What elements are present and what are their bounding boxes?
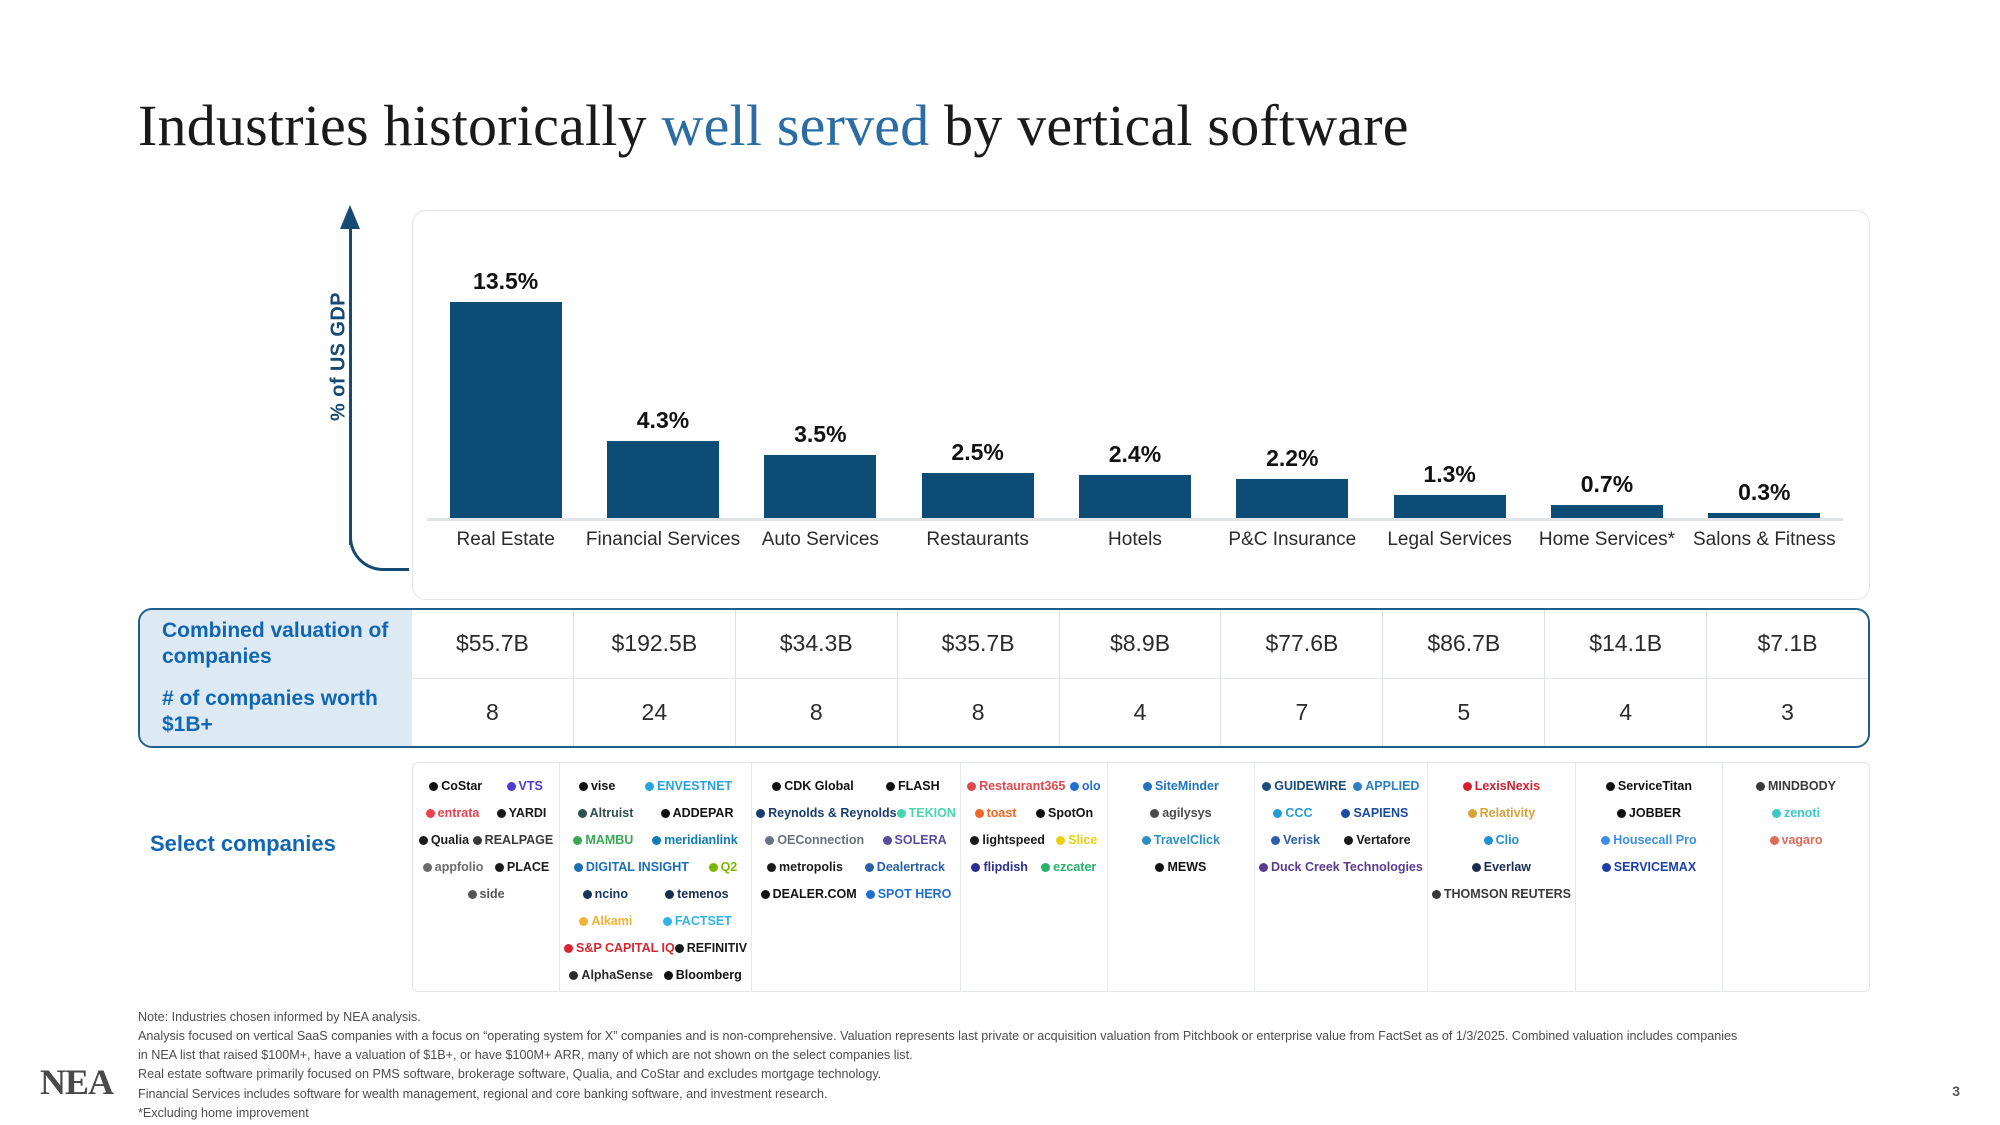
logo-row: JOBBER [1580,800,1718,827]
logo-mark-icon [495,863,504,872]
company-logo-name: SpotOn [1048,807,1093,820]
table-column: $14.1B4 [1544,610,1706,746]
bar-value-label: 2.2% [1266,445,1318,472]
company-logo: CCC [1273,807,1312,820]
company-logo-name: CCC [1285,807,1312,820]
logo-row: side [417,881,555,908]
bar [1394,495,1506,518]
company-logo: Vertafore [1344,834,1410,847]
page-number: 3 [1952,1083,1960,1099]
logo-row: metropolisDealertrack [756,854,956,881]
logo-row: ncinotemenos [564,881,747,908]
company-logo-name: flipdish [983,861,1027,874]
logo-mark-icon [419,836,428,845]
company-logo: YARDI [497,807,547,820]
company-logo: LexisNexis [1463,780,1540,793]
company-logo: REFINITIV [675,942,747,955]
x-axis-tick-label: Salons & Fitness [1686,529,1843,559]
logo-mark-icon [1472,863,1481,872]
company-logo-name: GUIDEWIRE [1274,780,1346,793]
logo-mark-icon [652,836,661,845]
table-column: $35.7B8 [897,610,1059,746]
company-logo-name: Relativity [1480,807,1536,820]
company-logo-name: TravelClick [1154,834,1220,847]
company-logo: DIGITAL INSIGHT [574,861,689,874]
bar-value-label: 13.5% [473,268,538,295]
company-logo: Verisk [1271,834,1320,847]
logo-row: AltruistADDEPAR [564,800,747,827]
logo-row: MEWS [1112,854,1250,881]
company-logo-name: DIGITAL INSIGHT [586,861,689,874]
company-logo: ServiceTitan [1606,780,1692,793]
logo-row: DEALER.COMSPOT HERO [756,881,956,908]
logo-row: TravelClick [1112,827,1250,854]
logo-row: Everlaw [1432,854,1571,881]
company-logo-name: Reynolds & Reynolds [768,807,897,820]
company-logo-name: Q2 [721,861,738,874]
logo-mark-icon [886,782,895,791]
logo-mark-icon [1344,836,1353,845]
nea-logo: NEA [40,1061,113,1103]
company-logo-name: ServiceTitan [1618,780,1692,793]
logo-mark-icon [1606,782,1615,791]
company-logo-name: toast [987,807,1017,820]
company-logo-name: MEWS [1167,861,1206,874]
table-cell: $86.7B [1383,610,1544,678]
company-logo-name: Slice [1068,834,1097,847]
company-logo: agilysys [1150,807,1211,820]
logo-mark-icon [1271,836,1280,845]
company-logo-name: SPOT HERO [878,888,952,901]
logo-mark-icon [578,809,587,818]
page-title-highlight: well served [662,93,930,158]
page-title-part1: Industries historically [138,93,662,158]
x-axis-tick-label: Restaurants [899,529,1056,559]
company-logo-name: MINDBODY [1768,780,1836,793]
table-cell: $55.7B [412,610,573,678]
logo-mark-icon [497,809,506,818]
bar-value-label: 2.5% [951,439,1003,466]
company-logo-name: CoStar [441,780,482,793]
company-logo: olo [1070,780,1101,793]
company-logo-name: FLASH [898,780,940,793]
company-logo: CoStar [429,780,482,793]
company-logo-name: lightspeed [982,834,1045,847]
logo-mark-icon [645,782,654,791]
table-cell: 8 [736,678,897,747]
logo-column: CoStarVTSentrataYARDIQualiaREALPAGEappfo… [413,763,559,991]
company-logo-name: vagaro [1782,834,1823,847]
x-axis-tick-label: Real Estate [427,529,584,559]
company-logo-name: PLACE [507,861,549,874]
logo-mark-icon [661,809,670,818]
company-logo: CDK Global [772,780,853,793]
company-logo: SOLERA [883,834,947,847]
logo-mark-icon [564,944,573,953]
company-logo: meridianlink [652,834,738,847]
company-logo: appfolio [423,861,484,874]
company-logo-name: REALPAGE [485,834,554,847]
company-logo: metropolis [767,861,843,874]
logo-mark-icon [1756,782,1765,791]
footnote-line: Real estate software primarily focused o… [138,1065,1858,1084]
company-logo: zenoti [1772,807,1820,820]
company-logo-name: THOMSON REUTERS [1444,888,1571,901]
company-logo-name: zenoti [1784,807,1820,820]
company-logo-name: VTS [519,780,543,793]
logo-mark-icon [765,836,774,845]
company-logo: ENVESTNET [645,780,732,793]
logo-row: toastSpotOn [965,800,1103,827]
company-logo-name: appfolio [435,861,484,874]
company-logo-name: Dealertrack [877,861,945,874]
chart-baseline [427,518,1843,521]
company-logo: Bloomberg [664,969,742,982]
bar [1079,475,1191,518]
company-logo: FLASH [886,780,940,793]
bar-column: 4.3% [584,268,741,518]
select-companies-label: Select companies [150,830,400,859]
company-logo: SiteMinder [1143,780,1219,793]
select-companies-panel: CoStarVTSentrataYARDIQualiaREALPAGEappfo… [412,762,1870,992]
company-logo-name: Clio [1496,834,1520,847]
company-logo: AlphaSense [569,969,653,982]
company-logo-name: Bloomberg [676,969,742,982]
logo-mark-icon [1262,782,1271,791]
logo-mark-icon [1601,836,1610,845]
company-logo: vagaro [1770,834,1823,847]
table-column: $77.6B7 [1220,610,1382,746]
bar [450,302,562,518]
logo-mark-icon [1056,836,1065,845]
company-logo-name: REFINITIV [687,942,747,955]
company-logo-name: LexisNexis [1475,780,1540,793]
logo-mark-icon [1041,863,1050,872]
logo-mark-icon [761,890,770,899]
logo-column: MINDBODYzenotivagaro [1722,763,1869,991]
logo-row: ServiceTitan [1580,773,1718,800]
company-logo-name: Vertafore [1356,834,1410,847]
company-logo-name: agilysys [1162,807,1211,820]
logo-row: vagaro [1727,827,1865,854]
company-logo-name: SAPIENS [1353,807,1408,820]
company-logo: TEKION [897,807,956,820]
company-logo-name: SOLERA [895,834,947,847]
logo-mark-icon [573,836,582,845]
table-cell: 24 [574,678,735,747]
company-logo-name: JOBBER [1629,807,1681,820]
company-logo: lightspeed [970,834,1045,847]
company-logo-name: SERVICEMAX [1614,861,1696,874]
logo-mark-icon [897,809,906,818]
company-logo: Qualia [419,834,469,847]
company-logo-name: olo [1082,780,1101,793]
company-logo: SAPIENS [1341,807,1408,820]
logo-column: ServiceTitanJOBBERHousecall ProSERVICEMA… [1575,763,1722,991]
x-axis-tick-label: Legal Services [1371,529,1528,559]
company-logo: VTS [507,780,543,793]
logo-row: Duck Creek Technologies [1259,854,1423,881]
logo-mark-icon [1259,863,1268,872]
logo-mark-icon [1070,782,1079,791]
footnote-line: Note: Industries chosen informed by NEA … [138,1008,1858,1027]
company-logo: Relativity [1468,807,1536,820]
bar-value-label: 3.5% [794,421,846,448]
bar-value-label: 4.3% [637,407,689,434]
company-logo: SpotOn [1036,807,1093,820]
logo-row: viseENVESTNET [564,773,747,800]
company-logo: Clio [1484,834,1520,847]
company-logo-name: CDK Global [784,780,853,793]
logo-mark-icon [865,863,874,872]
company-logo-name: temenos [677,888,728,901]
logo-mark-icon [967,782,976,791]
logo-row: lightspeedSlice [965,827,1103,854]
logo-mark-icon [1142,836,1151,845]
company-logo: S&P CAPITAL IQ [564,942,675,955]
logo-row: SERVICEMAX [1580,854,1718,881]
company-logo: Altruist [578,807,634,820]
logo-mark-icon [1463,782,1472,791]
logo-row: CoStarVTS [417,773,555,800]
logo-mark-icon [1772,809,1781,818]
company-logo-name: SiteMinder [1155,780,1219,793]
x-axis-tick-label: Financial Services [584,529,741,559]
logo-row: VeriskVertafore [1259,827,1423,854]
table-row-label-column: Combined valuation of companies # of com… [140,610,412,746]
company-logo: temenos [665,888,728,901]
logo-mark-icon [423,863,432,872]
logo-mark-icon [675,944,684,953]
logo-row: Clio [1432,827,1571,854]
logo-mark-icon [574,863,583,872]
page-title: Industries historically well served by v… [138,92,1409,159]
logo-row: OEConnectionSOLERA [756,827,956,854]
company-logo: FACTSET [663,915,732,928]
company-logo: MAMBU [573,834,633,847]
logo-mark-icon [579,782,588,791]
y-axis: % of US GDP [320,205,380,575]
logo-row: MINDBODY [1727,773,1865,800]
table-cell: 4 [1545,678,1706,747]
logo-row: Housecall Pro [1580,827,1718,854]
company-logo-name: Everlaw [1484,861,1531,874]
logo-row: Relativity [1432,800,1571,827]
company-logo: ezcater [1041,861,1096,874]
bar-column: 3.5% [742,268,899,518]
logo-mark-icon [663,917,672,926]
company-logo-name: Duck Creek Technologies [1271,861,1423,874]
company-logo: SERVICEMAX [1602,861,1696,874]
bar-series: 13.5%4.3%3.5%2.5%2.4%2.2%1.3%0.7%0.3% [427,268,1843,518]
logo-row: AlphaSenseBloomberg [564,962,747,989]
company-logo: Housecall Pro [1601,834,1696,847]
company-logo: MINDBODY [1756,780,1836,793]
logo-mark-icon [429,782,438,791]
logo-column: CDK GlobalFLASHReynolds & ReynoldsTEKION… [751,763,960,991]
company-logo: Duck Creek Technologies [1259,861,1423,874]
logo-column: viseENVESTNETAltruistADDEPARMAMBUmeridia… [559,763,751,991]
table-column: $34.3B8 [735,610,897,746]
company-logo-name: Verisk [1283,834,1320,847]
company-logo: SPOT HERO [866,888,952,901]
logo-mark-icon [468,890,477,899]
company-logo-name: APPLIED [1365,780,1419,793]
footnote-line: Analysis focused on vertical SaaS compan… [138,1027,1858,1046]
table-row-label-valuation: Combined valuation of companies [140,610,412,678]
bar-column: 0.7% [1528,268,1685,518]
logo-mark-icon [569,971,578,980]
company-logo: JOBBER [1617,807,1681,820]
logo-row: Restaurant365olo [965,773,1103,800]
logo-mark-icon [1273,809,1282,818]
company-logo: side [468,888,505,901]
company-logo: vise [579,780,615,793]
company-logo-name: TEKION [909,807,956,820]
logo-row: zenoti [1727,800,1865,827]
company-logo: PLACE [495,861,549,874]
company-logo: DEALER.COM [761,888,857,901]
logo-column: Restaurant365olotoastSpotOnlightspeedSli… [960,763,1107,991]
logo-mark-icon [970,836,979,845]
logo-row: AlkamiFACTSET [564,908,747,935]
logo-mark-icon [1602,863,1611,872]
bar-column: 2.5% [899,268,1056,518]
logo-row: agilysys [1112,800,1250,827]
footnote-line: Financial Services includes software for… [138,1085,1858,1104]
company-logo: REALPAGE [473,834,554,847]
logo-row: MAMBUmeridianlink [564,827,747,854]
company-logo: GUIDEWIRE [1262,780,1346,793]
logo-mark-icon [664,971,673,980]
company-logo-name: FACTSET [675,915,732,928]
y-axis-label: % of US GDP [328,262,351,452]
bar [1551,505,1663,518]
logo-mark-icon [583,890,592,899]
company-logo-name: ADDEPAR [673,807,734,820]
logo-mark-icon [507,782,516,791]
table-cell: $192.5B [574,610,735,678]
company-logo: MEWS [1155,861,1206,874]
logo-column: SiteMinderagilysysTravelClickMEWS [1107,763,1254,991]
company-logo: Restaurant365 [967,780,1065,793]
logo-mark-icon [473,836,482,845]
bar-value-label: 1.3% [1423,461,1475,488]
logo-row: SiteMinder [1112,773,1250,800]
x-axis-tick-label: P&C Insurance [1214,529,1371,559]
table-column: $7.1B3 [1706,610,1868,746]
company-logo-name: Qualia [431,834,469,847]
table-row-label-count: # of companies worth $1B+ [140,678,412,747]
logo-row: CDK GlobalFLASH [756,773,956,800]
company-logo: Alkami [579,915,632,928]
footnote-line: *Excluding home improvement [138,1104,1858,1123]
table-cell: $14.1B [1545,610,1706,678]
x-axis-labels: Real EstateFinancial ServicesAuto Servic… [427,529,1843,559]
bar-value-label: 0.7% [1581,471,1633,498]
x-axis-tick-label: Hotels [1056,529,1213,559]
company-logo: THOMSON REUTERS [1432,888,1571,901]
company-logo-name: ezcater [1053,861,1096,874]
logo-mark-icon [975,809,984,818]
logo-row: QualiaREALPAGE [417,827,555,854]
bar [607,441,719,518]
company-logo-name: ncino [595,888,628,901]
company-logo-name: MAMBU [585,834,633,847]
bar-value-label: 2.4% [1109,441,1161,468]
logo-mark-icon [866,890,875,899]
table-cell: $35.7B [898,610,1059,678]
logo-mark-icon [1150,809,1159,818]
logo-mark-icon [1353,782,1362,791]
table-data-columns: $55.7B8$192.5B24$34.3B8$35.7B8$8.9B4$77.… [412,610,1868,746]
table-column: $8.9B4 [1059,610,1221,746]
logo-mark-icon [767,863,776,872]
logo-mark-icon [1468,809,1477,818]
company-logo: Slice [1056,834,1097,847]
logo-row: Reynolds & ReynoldsTEKION [756,800,956,827]
company-logo: flipdish [971,861,1027,874]
logo-mark-icon [1432,890,1441,899]
table-column: $86.7B5 [1382,610,1544,746]
table-cell: 7 [1221,678,1382,747]
company-logo: Q2 [709,861,738,874]
logo-mark-icon [1143,782,1152,791]
bar [922,473,1034,518]
company-logo: ncino [583,888,628,901]
logo-column: GUIDEWIREAPPLIEDCCCSAPIENSVeriskVertafor… [1254,763,1427,991]
logo-mark-icon [1484,836,1493,845]
bar-column: 2.2% [1214,268,1371,518]
logo-mark-icon [772,782,781,791]
company-logo: toast [975,807,1017,820]
table-cell: $8.9B [1060,610,1221,678]
bar-value-label: 0.3% [1738,479,1790,506]
company-logo-name: entrata [438,807,480,820]
company-logo-name: Alkami [591,915,632,928]
company-logo: entrata [426,807,480,820]
bar-column: 2.4% [1056,268,1213,518]
table-cell: $34.3B [736,610,897,678]
table-cell: 4 [1060,678,1221,747]
x-axis-tick-label: Auto Services [742,529,899,559]
company-logo-name: metropolis [779,861,843,874]
company-logo-name: DEALER.COM [773,888,857,901]
logo-mark-icon [1770,836,1779,845]
company-logo-name: side [480,888,505,901]
company-logo-name: Altruist [590,807,634,820]
table-column: $192.5B24 [573,610,735,746]
bar-column: 0.3% [1686,268,1843,518]
table-cell: $77.6B [1221,610,1382,678]
company-logo-name: Housecall Pro [1613,834,1696,847]
page-title-part2: by vertical software [929,93,1408,158]
company-logo: OEConnection [765,834,864,847]
company-logo: ADDEPAR [661,807,734,820]
footnotes: Note: Industries chosen informed by NEA … [138,1008,1858,1123]
company-logo-name: YARDI [509,807,547,820]
logo-mark-icon [883,836,892,845]
table-cell: 5 [1383,678,1544,747]
company-logo-name: meridianlink [664,834,738,847]
logo-row: DIGITAL INSIGHTQ2 [564,854,747,881]
logo-mark-icon [1036,809,1045,818]
logo-mark-icon [1341,809,1350,818]
company-logo: Everlaw [1472,861,1531,874]
company-logo-name: vise [591,780,615,793]
logo-mark-icon [426,809,435,818]
table-cell: 3 [1707,678,1868,747]
